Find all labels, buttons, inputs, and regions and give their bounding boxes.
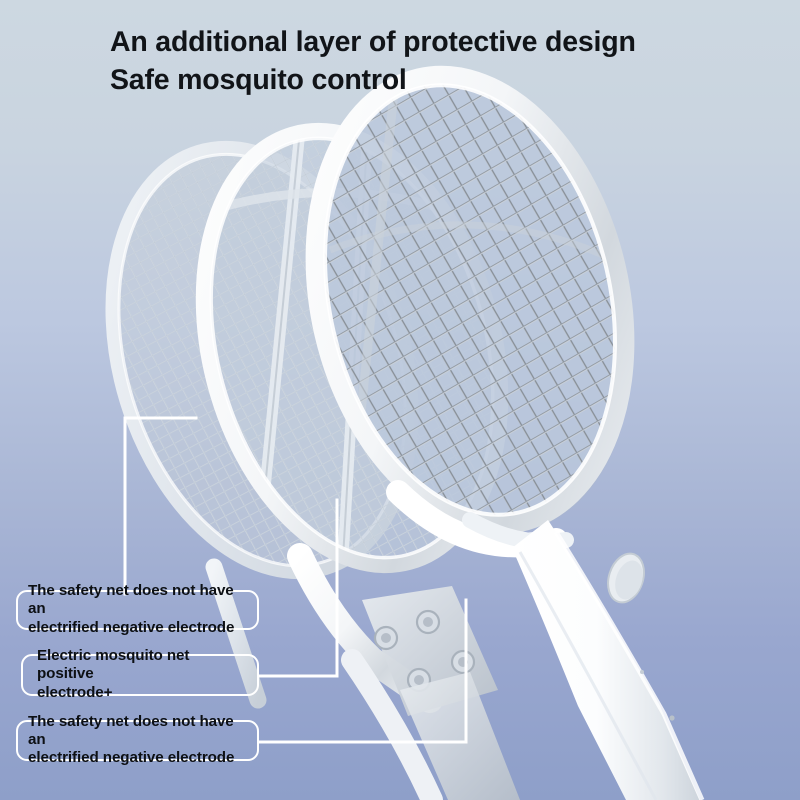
racket-handle	[512, 520, 700, 800]
power-button[interactable]	[602, 549, 650, 607]
page-headline: An additional layer of protective design…	[110, 24, 636, 100]
product-infographic: An additional layer of protective design…	[0, 0, 800, 800]
callout-positive-electrode[interactable]: Electric mosquito net positive electrode…	[21, 654, 259, 696]
callout-safety-net-upper[interactable]: The safety net does not have an electrif…	[16, 590, 259, 630]
callout-safety-net-lower[interactable]: The safety net does not have an electrif…	[16, 720, 259, 761]
callout-text: The safety net does not have an electrif…	[28, 713, 248, 768]
callout-text: The safety net does not have an electrif…	[28, 582, 248, 637]
callout-text: Electric mosquito net positive electrode…	[37, 647, 248, 702]
